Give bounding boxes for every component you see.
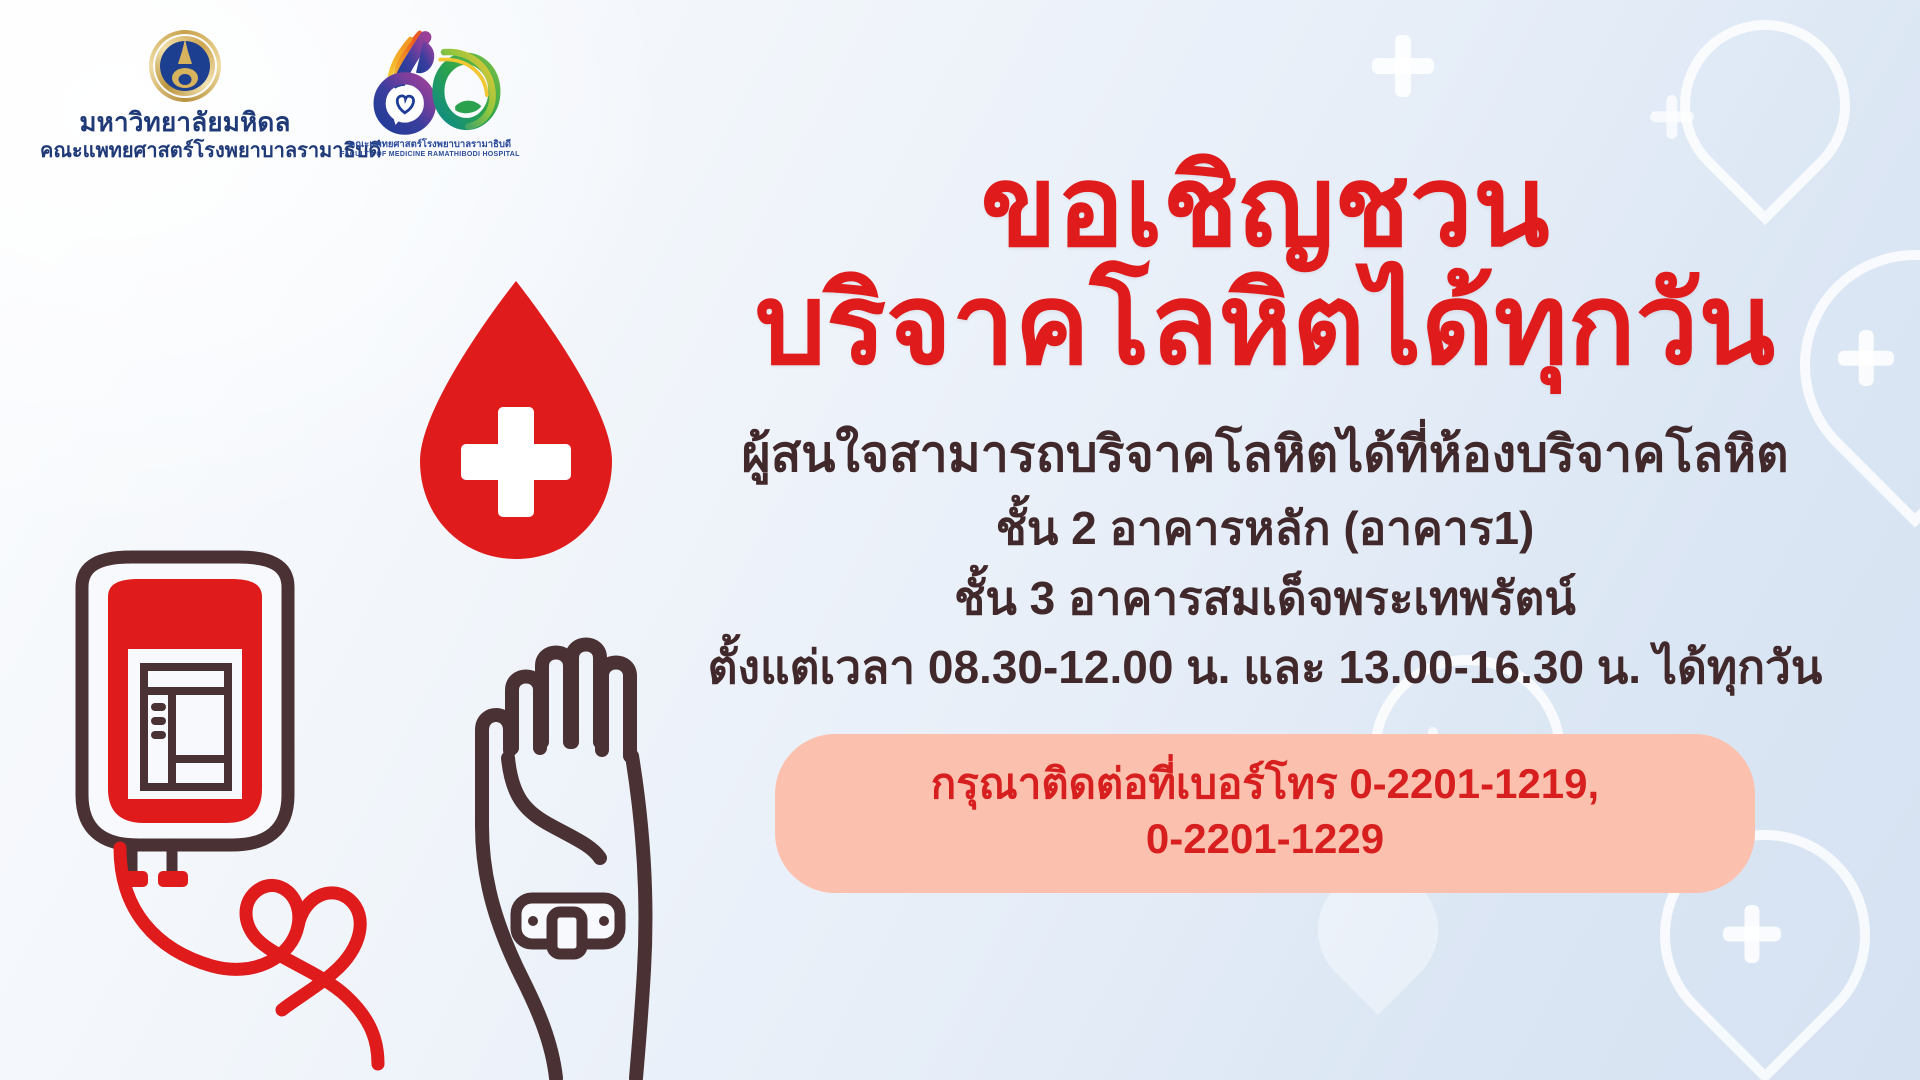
anniversary-caption-thai: คณะแพทยศาสตร์โรงพยาบาลรามาธิบดี [340, 140, 520, 151]
decorative-cross-icon [1650, 95, 1694, 139]
poster-title-line1: ขอเชิญชวน [640, 150, 1890, 264]
university-logo-block: มหาวิทยาลัยมหิดล คณะแพทยศาสตร์โรงพยาบาลร… [40, 30, 330, 163]
decorative-cross-icon [1723, 905, 1781, 963]
anniversary-logo-block: คณะแพทยศาสตร์โรงพยาบาลรามาธิบดี FACULTY … [340, 26, 520, 159]
60th-anniversary-icon [350, 26, 510, 138]
anniversary-caption-english: FACULTY OF MEDICINE RAMATHIBODI HOSPITAL [340, 151, 520, 159]
poster-title-line2: บริจาคโลหิตได้ทุกวัน [640, 268, 1890, 382]
contact-phone-line1: กรุณาติดต่อที่เบอร์โทร 0-2201-1219, [805, 756, 1725, 811]
main-content: ขอเชิญชวน บริจาคโลหิตได้ทุกวัน ผู้สนใจสา… [640, 150, 1890, 893]
mahidol-seal-icon [149, 30, 221, 102]
university-name: มหาวิทยาลัยมหิดล [40, 108, 330, 138]
detail-line-4: ตั้งแต่เวลา 08.30-12.00 น. และ 13.00-16.… [640, 636, 1890, 699]
blood-drop-with-cross-icon [400, 275, 632, 565]
contact-phone-line2: 0-2201-1229 [805, 811, 1725, 866]
faculty-name: คณะแพทยศาสตร์โรงพยาบาลรามาธิบดี [40, 140, 330, 163]
detail-line-3: ชั้น 3 อาคารสมเด็จพระเทพรัตน์ [640, 567, 1890, 630]
detail-line-1: ผู้สนใจสามารถบริจาคโลหิตได้ที่ห้องบริจาค… [640, 420, 1890, 489]
contact-phone-badge[interactable]: กรุณาติดต่อที่เบอร์โทร 0-2201-1219, 0-22… [775, 734, 1755, 893]
decorative-cross-icon [1372, 35, 1434, 97]
detail-line-2: ชั้น 2 อาคารหลัก (อาคาร1) [640, 497, 1890, 560]
poster-canvas: มหาวิทยาลัยมหิดล คณะแพทยศาสตร์โรงพยาบาลร… [0, 0, 1920, 1080]
